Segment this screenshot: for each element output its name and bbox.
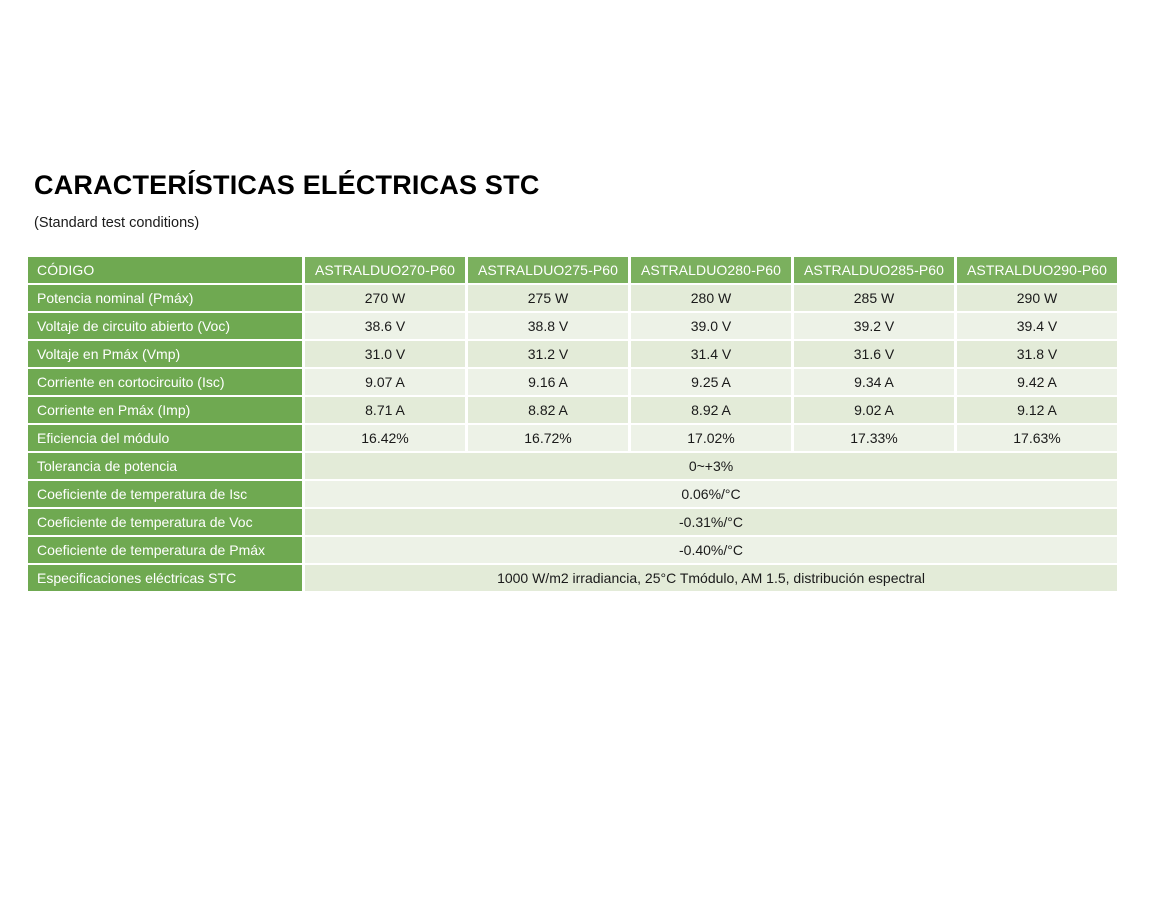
row-value-cell: 31.2 V	[468, 341, 628, 367]
row-label: Coeficiente de temperatura de Voc	[28, 509, 302, 535]
row-value-cell: 9.34 A	[794, 369, 954, 395]
table-row: Especificaciones eléctricas STC1000 W/m2…	[28, 565, 1117, 591]
column-header-model-1: ASTRALDUO270-P60	[305, 257, 465, 283]
row-value-cell: 39.4 V	[957, 313, 1117, 339]
row-value-cell: 39.0 V	[631, 313, 791, 339]
row-value-cell: 270 W	[305, 285, 465, 311]
row-label: Potencia nominal (Pmáx)	[28, 285, 302, 311]
row-value-cell: 31.6 V	[794, 341, 954, 367]
row-value-cell: 8.71 A	[305, 397, 465, 423]
row-value-cell: 31.0 V	[305, 341, 465, 367]
row-value-cell: 8.92 A	[631, 397, 791, 423]
table-header-row: CÓDIGO ASTRALDUO270-P60 ASTRALDUO275-P60…	[28, 257, 1117, 283]
row-label: Voltaje de circuito abierto (Voc)	[28, 313, 302, 339]
table-row: Eficiencia del módulo16.42%16.72%17.02%1…	[28, 425, 1117, 451]
table-row: Voltaje de circuito abierto (Voc)38.6 V3…	[28, 313, 1117, 339]
row-value-span: -0.40%/°C	[305, 537, 1117, 563]
column-header-model-2: ASTRALDUO275-P60	[468, 257, 628, 283]
row-value-cell: 31.4 V	[631, 341, 791, 367]
row-label: Tolerancia de potencia	[28, 453, 302, 479]
row-value-cell: 9.25 A	[631, 369, 791, 395]
table-body: Potencia nominal (Pmáx)270 W275 W280 W28…	[28, 285, 1117, 591]
table-row: Corriente en cortocircuito (Isc)9.07 A9.…	[28, 369, 1117, 395]
table-row: Potencia nominal (Pmáx)270 W275 W280 W28…	[28, 285, 1117, 311]
row-label: Voltaje en Pmáx (Vmp)	[28, 341, 302, 367]
row-value-cell: 9.07 A	[305, 369, 465, 395]
row-value-cell: 17.02%	[631, 425, 791, 451]
row-label: Eficiencia del módulo	[28, 425, 302, 451]
row-label: Corriente en cortocircuito (Isc)	[28, 369, 302, 395]
row-label: Coeficiente de temperatura de Pmáx	[28, 537, 302, 563]
row-value-cell: 275 W	[468, 285, 628, 311]
row-value-cell: 17.63%	[957, 425, 1117, 451]
row-value-cell: 8.82 A	[468, 397, 628, 423]
row-value-cell: 31.8 V	[957, 341, 1117, 367]
table-row: Corriente en Pmáx (Imp)8.71 A8.82 A8.92 …	[28, 397, 1117, 423]
row-label: Especificaciones eléctricas STC	[28, 565, 302, 591]
row-value-cell: 9.12 A	[957, 397, 1117, 423]
electrical-characteristics-table: CÓDIGO ASTRALDUO270-P60 ASTRALDUO275-P60…	[25, 255, 1120, 593]
column-header-model-5: ASTRALDUO290-P60	[957, 257, 1117, 283]
row-value-span: 1000 W/m2 irradiancia, 25°C Tmódulo, AM …	[305, 565, 1117, 591]
table-row: Tolerancia de potencia0~+3%	[28, 453, 1117, 479]
column-header-model-3: ASTRALDUO280-P60	[631, 257, 791, 283]
row-value-cell: 280 W	[631, 285, 791, 311]
row-value-cell: 285 W	[794, 285, 954, 311]
table-header: CÓDIGO ASTRALDUO270-P60 ASTRALDUO275-P60…	[28, 257, 1117, 283]
row-value-span: 0~+3%	[305, 453, 1117, 479]
table-row: Coeficiente de temperatura de Voc-0.31%/…	[28, 509, 1117, 535]
table-row: Coeficiente de temperatura de Pmáx-0.40%…	[28, 537, 1117, 563]
row-value-cell: 38.8 V	[468, 313, 628, 339]
row-value-cell: 16.42%	[305, 425, 465, 451]
page-subtitle: (Standard test conditions)	[34, 215, 199, 231]
row-value-cell: 16.72%	[468, 425, 628, 451]
row-value-span: 0.06%/°C	[305, 481, 1117, 507]
row-value-cell: 9.16 A	[468, 369, 628, 395]
column-header-codigo: CÓDIGO	[28, 257, 302, 283]
row-label: Corriente en Pmáx (Imp)	[28, 397, 302, 423]
row-value-cell: 39.2 V	[794, 313, 954, 339]
row-value-cell: 38.6 V	[305, 313, 465, 339]
row-value-cell: 290 W	[957, 285, 1117, 311]
row-value-cell: 9.02 A	[794, 397, 954, 423]
row-value-cell: 17.33%	[794, 425, 954, 451]
page-title: CARACTERÍSTICAS ELÉCTRICAS STC	[34, 170, 540, 201]
column-header-model-4: ASTRALDUO285-P60	[794, 257, 954, 283]
row-label: Coeficiente de temperatura de Isc	[28, 481, 302, 507]
table-row: Voltaje en Pmáx (Vmp)31.0 V31.2 V31.4 V3…	[28, 341, 1117, 367]
page-root: CARACTERÍSTICAS ELÉCTRICAS STC (Standard…	[0, 0, 1150, 900]
table-row: Coeficiente de temperatura de Isc0.06%/°…	[28, 481, 1117, 507]
row-value-span: -0.31%/°C	[305, 509, 1117, 535]
row-value-cell: 9.42 A	[957, 369, 1117, 395]
